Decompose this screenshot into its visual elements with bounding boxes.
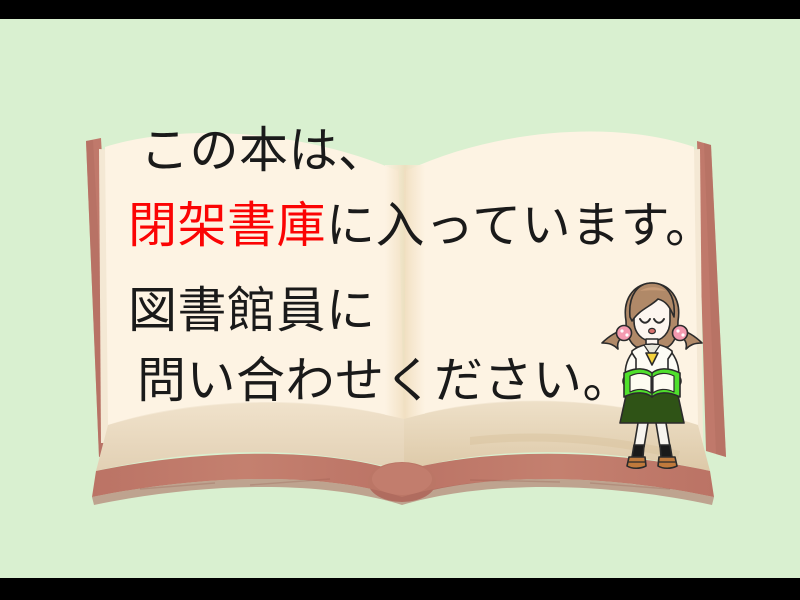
scrunchie-right — [673, 326, 688, 341]
leg-right — [656, 423, 670, 447]
leg-left — [634, 423, 648, 447]
sock-right — [660, 445, 672, 457]
scrunchie-left — [617, 326, 632, 341]
scene-background: この本は、 閉架書庫に入っています。 図書館員に 問い合わせください。 — [0, 19, 800, 578]
mouth — [649, 328, 656, 333]
book-gutter — [385, 165, 425, 431]
held-book — [624, 369, 680, 397]
girl-reading-icon — [596, 277, 708, 472]
slide-canvas: この本は、 閉架書庫に入っています。 図書館員に 問い合わせください。 — [0, 0, 800, 600]
sock-left — [632, 445, 644, 457]
shoe-right — [658, 457, 677, 468]
letterbox-bar-top — [0, 0, 800, 19]
letterbox-bar-bottom — [0, 578, 800, 600]
book-page-left — [105, 133, 404, 425]
shoe-left — [627, 457, 646, 468]
